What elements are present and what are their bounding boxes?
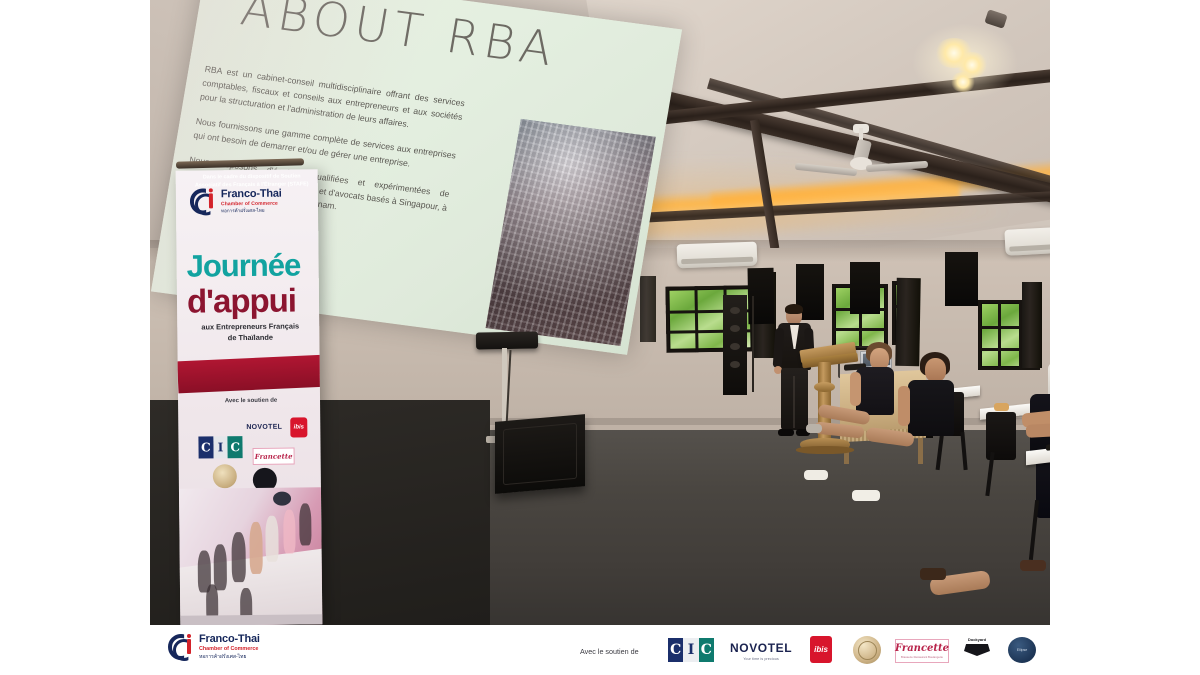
footer-inner: Franco-Thai Chamber of Commerce หอการค้า… — [150, 625, 1050, 675]
footer-support-label: Avec le soutien de — [580, 647, 639, 656]
footer-chamber-subtitle: Chamber of Commerce — [199, 647, 260, 652]
curtain — [895, 278, 921, 366]
pastry-on-desk — [994, 403, 1009, 411]
projector — [476, 331, 538, 349]
cic-letter-i: I — [213, 436, 228, 458]
curtain — [640, 276, 656, 342]
banner-ibis-logo: ibis — [290, 417, 307, 437]
screenshot-root: ABOUT RBA RBA est un cabinet-conseil mul… — [0, 0, 1200, 675]
banner-chamber-name: Franco-Thai — [221, 188, 282, 200]
footer-chamber-thai: หอการค้าฝรั่งเศส-ไทย — [199, 655, 260, 660]
cci-logo-icon — [168, 634, 194, 660]
footer-oval-logo: Ellipse — [1008, 637, 1036, 663]
banner-strip-text: Dans le cadre du dispositif de Soutien A… — [188, 172, 316, 190]
footer-francette-logo: Francette Brasserie Restaurant Boulanger… — [895, 639, 949, 663]
cic-letter-c2: C — [699, 638, 714, 662]
cci-i-stem — [209, 193, 213, 208]
collage-figure — [249, 522, 263, 574]
novotel-tagline: Your time is precious — [743, 657, 779, 661]
curtain — [1022, 282, 1042, 368]
ac-vent — [1009, 243, 1050, 251]
attendee-sandal — [1020, 560, 1046, 571]
subwoofer — [495, 414, 585, 494]
attendee-arm-folded — [1026, 423, 1050, 438]
presenter-shoe — [778, 429, 794, 436]
footer-chamber-text: Franco-Thai Chamber of Commerce หอการค้า… — [199, 634, 260, 659]
dockyard-line-1: Dockyard — [962, 637, 992, 642]
footer-dockyard-logo: Dockyard — [962, 637, 992, 663]
window-transom — [832, 328, 888, 331]
event-photograph: ABOUT RBA RBA est un cabinet-conseil mul… — [150, 0, 1050, 625]
collage-circle — [273, 492, 291, 506]
lectern-base-rim — [796, 446, 854, 454]
cci-logo-icon — [190, 188, 216, 214]
cci-c-letter — [195, 193, 217, 215]
francette-tagline: Brasserie Restaurant Boulangerie — [901, 655, 943, 659]
footer-novotel-logo: NOVOTEL Your time is precious — [730, 641, 792, 661]
collage-figure — [214, 544, 227, 590]
collage-figure — [231, 532, 246, 582]
presenter-hair — [785, 304, 803, 314]
banner-red-strip — [177, 355, 322, 394]
speaker-driver — [730, 307, 740, 314]
acoustic-panel — [945, 252, 978, 306]
banner-base-strip — [180, 614, 322, 625]
spotlight-icon — [950, 72, 976, 92]
attendee-arm — [850, 372, 861, 406]
banner-photo-collage — [179, 487, 322, 625]
attendee-torso — [908, 380, 954, 436]
ac-vent — [681, 257, 753, 265]
attendee-sandal — [852, 490, 880, 501]
attendee-torso — [856, 367, 894, 415]
speaker-tower — [723, 295, 747, 395]
banner-headline-1: Journée — [186, 247, 300, 284]
banner-subline-1: aux Entrepreneurs Français — [195, 321, 305, 333]
collage-figure — [299, 503, 311, 545]
footer-chamber-logo: Franco-Thai Chamber of Commerce หอการค้า… — [168, 634, 260, 660]
cic-letter-c1: C — [668, 638, 683, 662]
banner-novotel-logo: NOVOTEL — [246, 424, 282, 431]
cci-c-letter — [173, 639, 195, 661]
footer-cic-logo: C I C — [668, 638, 714, 662]
collage-figure — [265, 516, 278, 562]
acoustic-panel — [850, 262, 880, 314]
footer-logo-bar: Franco-Thai Chamber of Commerce หอการค้า… — [0, 625, 1200, 675]
cic-letter-c1: C — [198, 436, 213, 458]
mic-stand — [752, 296, 754, 392]
banner-francette-logo: Francette — [253, 448, 295, 465]
attendee-sandal — [804, 470, 828, 480]
attendee-sandal — [920, 568, 946, 580]
banner-cic-logo: C I C — [198, 436, 242, 458]
banner-chamber-subtitle: Chamber of Commerce — [221, 201, 282, 207]
banner-headline-2: d'appui — [187, 282, 296, 321]
attendee-arm — [898, 386, 910, 426]
banner-support-label: Avec le soutien de — [196, 397, 306, 404]
cic-letter-i: I — [683, 638, 698, 662]
banner-subline-2: de Thaïlande — [195, 332, 305, 344]
attendee-sandal — [806, 424, 822, 433]
collage-figure — [283, 510, 295, 554]
banner-strip-line-2: Associatif des Français à l'Étranger (ST… — [188, 181, 316, 191]
dockyard-emblem-shape — [964, 644, 990, 656]
presenter — [774, 306, 814, 438]
speaker-driver — [730, 343, 740, 350]
banner-chamber-thai: หอการค้าฝรั่งเศส-ไทย — [221, 208, 282, 213]
subwoofer-grille — [503, 423, 577, 485]
speaker-driver — [730, 325, 740, 332]
banner-seal-logo — [213, 464, 237, 488]
speaker-driver — [730, 361, 740, 368]
lectern-knob — [814, 382, 835, 392]
cic-letter-c2: C — [228, 436, 243, 458]
footer-seal-logo — [853, 636, 881, 664]
novotel-wordmark: NOVOTEL — [730, 641, 792, 655]
window-mullion — [998, 300, 1001, 370]
rollup-banner: Franco-Thai Chamber of Commerce หอการค้า… — [176, 169, 323, 625]
seal-inner-ring — [858, 641, 877, 660]
banner-logo-text: Franco-Thai Chamber of Commerce หอการค้า… — [221, 188, 282, 213]
attendee-head — [925, 358, 946, 382]
footer-ibis-logo: ibis — [810, 636, 832, 663]
cci-i-dot — [187, 634, 191, 638]
francette-wordmark: Francette — [895, 643, 949, 654]
footer-chamber-name: Franco-Thai — [199, 634, 260, 645]
banner-subline: aux Entrepreneurs Français de Thaïlande — [195, 321, 305, 344]
presenter-trouser-seam — [793, 376, 795, 428]
air-conditioner-unit — [677, 242, 758, 269]
cci-i-stem — [187, 639, 191, 654]
air-conditioner-unit — [1004, 226, 1050, 256]
banner-sponsor-logos: NOVOTEL ibis C I C Francette — [190, 411, 311, 490]
